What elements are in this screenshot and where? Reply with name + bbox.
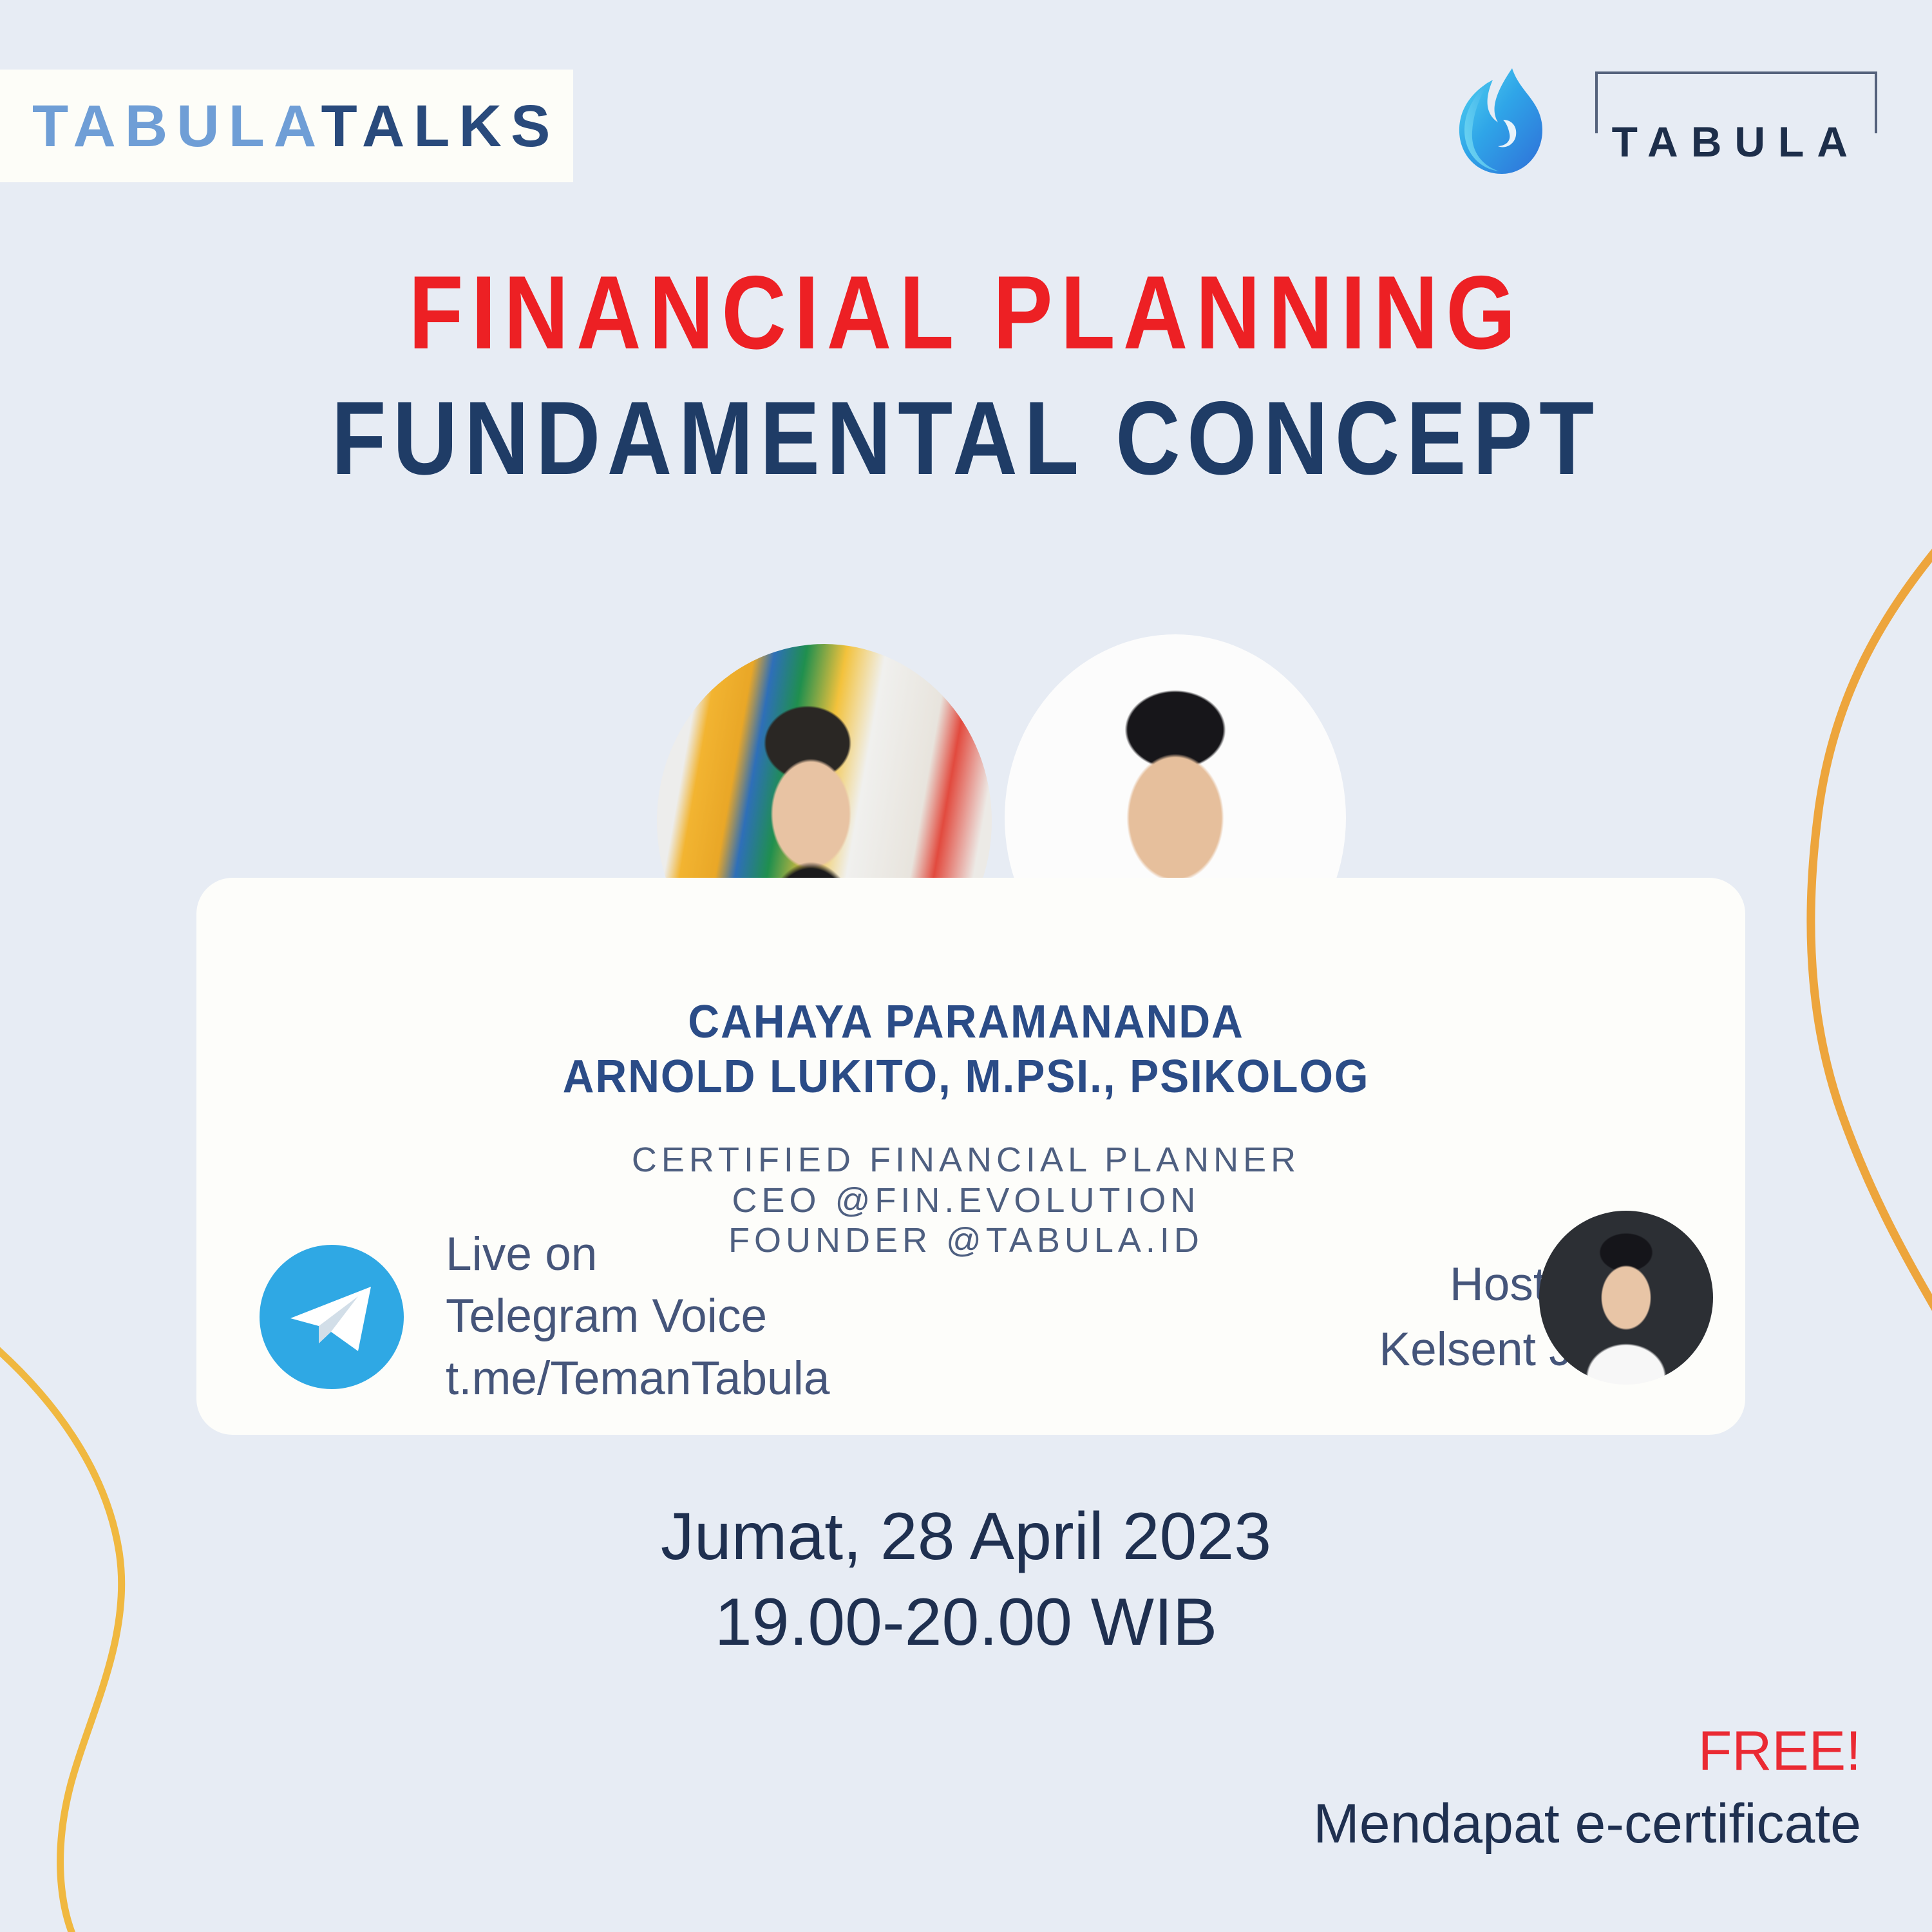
live-channel-block[interactable]: Live on Telegram Voice t.me/TemanTabula	[258, 1224, 829, 1410]
credential-line-1: CERTIFIED FINANCIAL PLANNER	[0, 1140, 1932, 1180]
page-title-line2: FUNDAMENTAL CONCEPT	[135, 386, 1797, 491]
speaker-names: CAHAYA PARAMANANDA ARNOLD LUKITO, M.PSI.…	[0, 995, 1932, 1104]
live-on-label: Live on	[446, 1224, 829, 1285]
event-poster: TABULATALKS TABULA FINANC	[0, 0, 1932, 1932]
tabula-logo-text: TABULA	[1612, 93, 1861, 163]
tabulatalks-wordmark: TABULATALKS	[32, 97, 559, 156]
live-link[interactable]: t.me/TemanTabula	[446, 1348, 829, 1410]
live-channel-lines: Live on Telegram Voice t.me/TemanTabula	[446, 1224, 829, 1410]
tabula-flame-logo-icon	[1450, 63, 1557, 176]
tabulatalks-wordmark-dark: TALKS	[321, 93, 560, 159]
host-photo-kelsent-jusan	[1539, 1211, 1713, 1385]
speaker-name-2: ARNOLD LUKITO, M.PSI., PSIKOLOG	[58, 1050, 1874, 1104]
footer-block: FREE! Mendapat e-certificate	[1313, 1717, 1861, 1861]
live-platform: Telegram Voice	[446, 1285, 829, 1347]
tabulatalks-wordmark-light: TABULA	[32, 93, 321, 159]
telegram-icon[interactable]	[258, 1243, 406, 1391]
event-date: Jumat, 28 April 2023	[0, 1494, 1932, 1580]
speaker-name-1: CAHAYA PARAMANANDA	[58, 995, 1874, 1050]
event-time: 19.00-20.00 WIB	[0, 1580, 1932, 1665]
page-title-line1: FINANCIAL PLANNING	[135, 261, 1797, 365]
price-badge: FREE!	[1313, 1717, 1861, 1786]
schedule-block: Jumat, 28 April 2023 19.00-20.00 WIB	[0, 1494, 1932, 1665]
certificate-note: Mendapat e-certificate	[1313, 1786, 1861, 1861]
tabula-logo: TABULA	[1450, 61, 1877, 177]
